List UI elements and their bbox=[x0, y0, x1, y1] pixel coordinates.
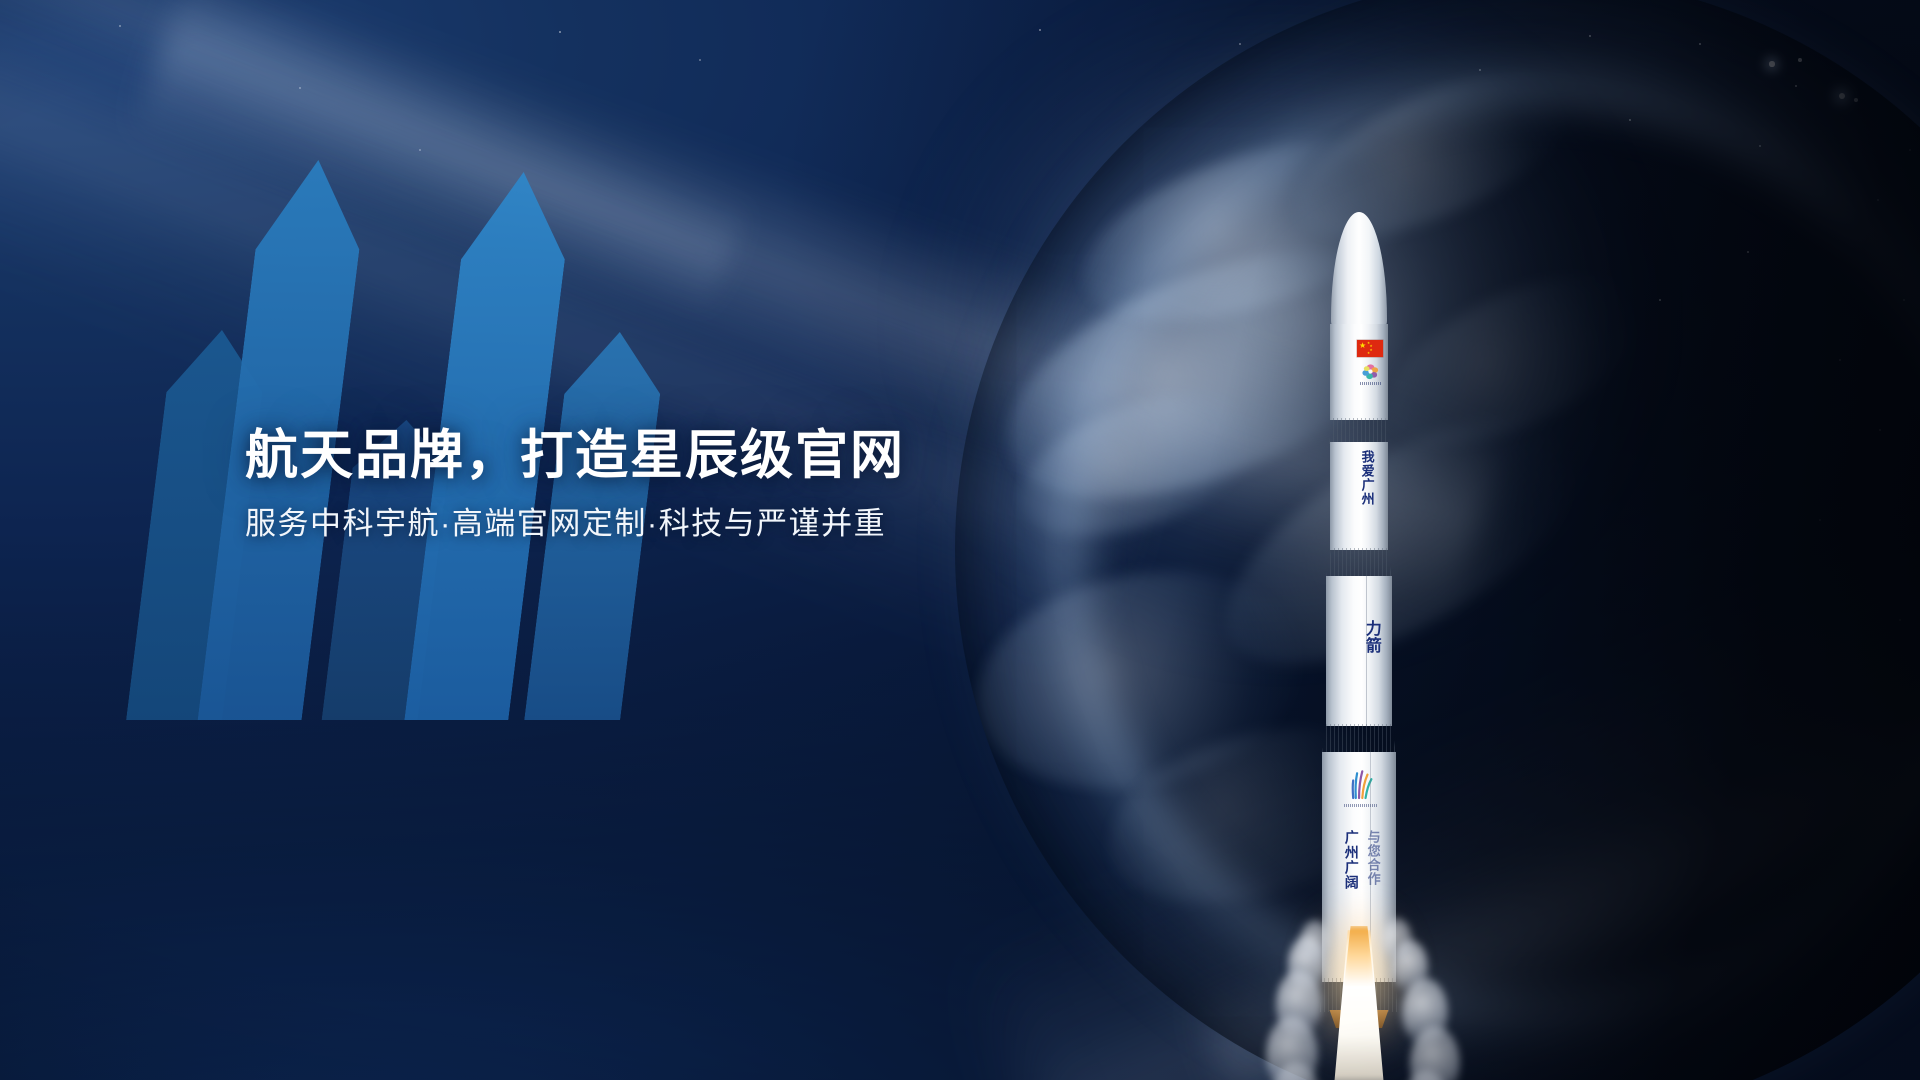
vignette-overlay bbox=[0, 0, 1920, 1080]
hero-banner: ★ ★ ★ ★ ★ bbox=[0, 0, 1920, 1080]
